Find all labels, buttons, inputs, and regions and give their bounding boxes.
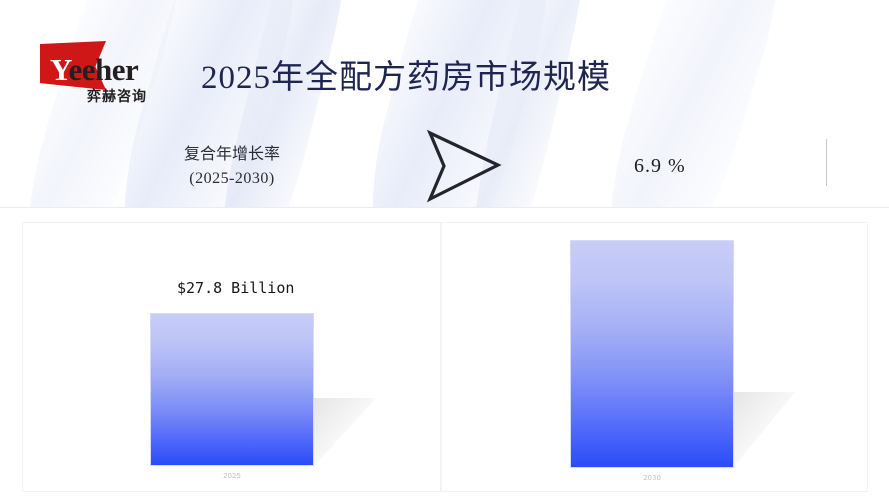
cagr-value: 6.9 % — [634, 155, 686, 178]
slide-root: Yeeher 弈赫咨询 2025年全配方药房市场规模 复合年增长率 (2025-… — [0, 0, 889, 500]
page-title: 2025年全配方药房市场规模 — [201, 50, 611, 98]
logo-wordmark-rest: eeher — [68, 52, 138, 87]
bar-chart — [0, 208, 889, 500]
brand-logo: Yeeher 弈赫咨询 — [40, 41, 165, 103]
logo-wordmark: Yeeher — [50, 54, 138, 85]
cagr-label-line2: (2025-2030) — [184, 167, 280, 191]
bar-category-label-2030: 2030 — [602, 474, 702, 482]
bar-value-label-2025: $27.8 Billion — [177, 279, 294, 297]
logo-wordmark-initial: Y — [50, 52, 68, 87]
swoosh-shape — [581, 0, 809, 208]
arrow-right-icon — [424, 129, 502, 203]
bar-2030[interactable] — [570, 240, 734, 468]
logo-subtitle: 弈赫咨询 — [87, 86, 147, 106]
bar-category-label-2025: 2025 — [182, 472, 282, 480]
bar-2025[interactable] — [150, 313, 314, 466]
cagr-label-line1: 复合年增长率 — [184, 146, 280, 163]
vertical-divider — [826, 139, 827, 186]
cagr-label: 复合年增长率 (2025-2030) — [184, 143, 280, 191]
